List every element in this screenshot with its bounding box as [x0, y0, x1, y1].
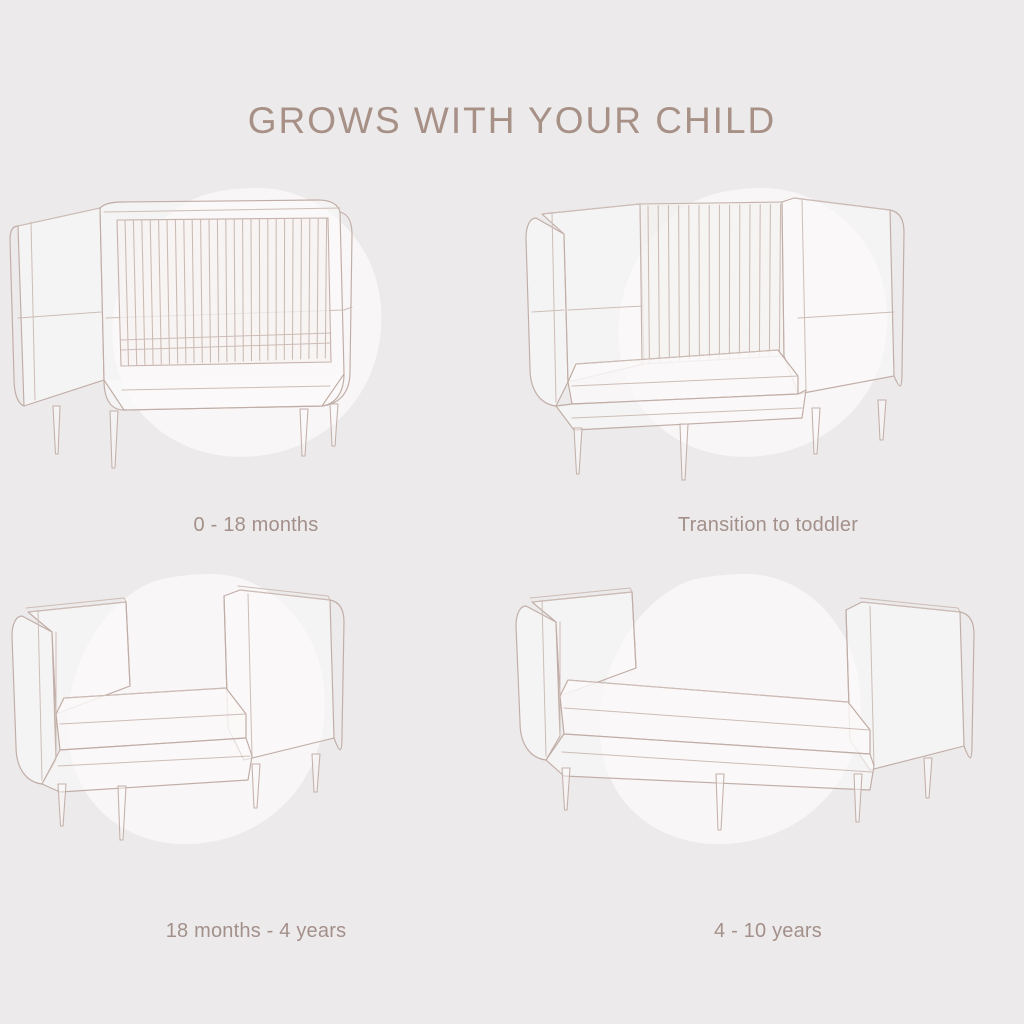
stage-caption-1: Transition to toddler — [512, 514, 1024, 537]
crib-illustration-3 — [512, 568, 1024, 908]
stage-caption-0: 0 - 18 months — [0, 514, 512, 537]
crib-illustration-1 — [512, 178, 1024, 518]
crib-base-0 — [104, 374, 344, 410]
bed-back-slat-panel-1 — [640, 202, 784, 364]
stage-card-2: 18 months - 4 years — [0, 568, 512, 968]
stage-card-1: Transition to toddler — [512, 178, 1024, 578]
crib-illustration-2 — [0, 568, 512, 908]
stage-caption-2: 18 months - 4 years — [0, 920, 512, 943]
bed-right-end-panel-1 — [782, 198, 904, 394]
page-title: GROWS WITH YOUR CHILD — [0, 100, 1024, 142]
crib-slat-panel-0 — [117, 218, 331, 366]
crib-left-side-panel-0 — [10, 208, 104, 406]
stage-grid: 0 - 18 months — [0, 178, 1024, 978]
grows-with-your-child-infographic: GROWS WITH YOUR CHILD — [0, 0, 1024, 1024]
stage-card-3: 4 - 10 years — [512, 568, 1024, 968]
stage-caption-3: 4 - 10 years — [512, 920, 1024, 943]
stage-card-0: 0 - 18 months — [0, 178, 512, 578]
crib-illustration-0 — [0, 178, 512, 518]
